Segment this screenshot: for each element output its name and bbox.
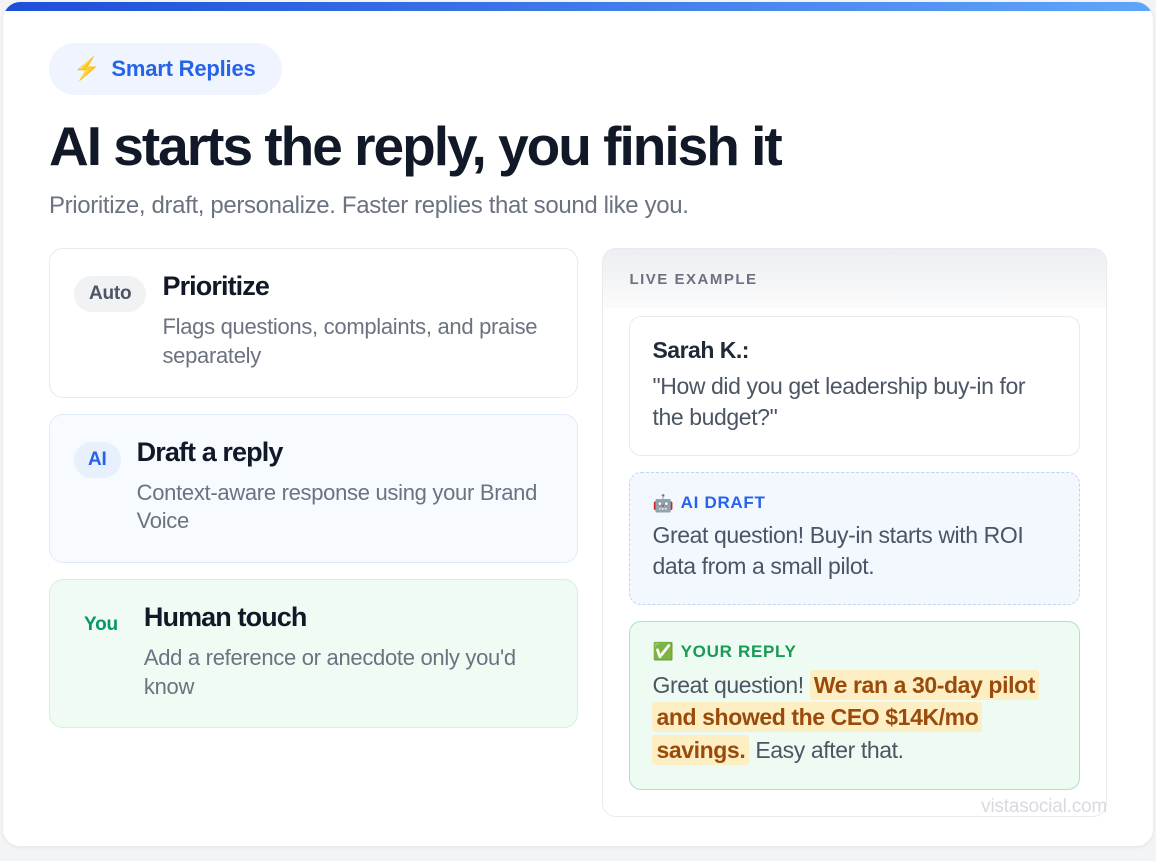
- footer-site-label: vistasocial.com: [981, 796, 1107, 817]
- gradient-top-bar: [3, 2, 1153, 11]
- message-bubble-question: Sarah K.: "How did you get leadership bu…: [629, 316, 1080, 456]
- ai-draft-tag: 🤖 AI DRAFT: [652, 493, 1057, 513]
- steps-column: Auto Prioritize Flags questions, complai…: [49, 248, 578, 728]
- content-columns: Auto Prioritize Flags questions, complai…: [49, 248, 1107, 816]
- step-card-draft-a-reply: AI Draft a reply Context-aware response …: [49, 414, 578, 563]
- page-root: ⚡ Smart Replies AI starts the reply, you…: [0, 0, 1156, 861]
- your-reply-tag: ✅ YOUR REPLY: [652, 642, 1057, 662]
- badge-label: Smart Replies: [111, 56, 255, 82]
- main-card: ⚡ Smart Replies AI starts the reply, you…: [2, 2, 1154, 847]
- live-example-column: LIVE EXAMPLE Sarah K.: "How did you get …: [602, 248, 1107, 816]
- message-bubble-ai-draft: 🤖 AI DRAFT Great question! Buy-in starts…: [629, 472, 1080, 605]
- step-title: Draft a reply: [137, 437, 554, 468]
- step-title: Human touch: [144, 602, 554, 633]
- step-card-human-touch: You Human touch Add a reference or anecd…: [49, 579, 578, 728]
- step-description: Context-aware response using your Brand …: [137, 479, 554, 536]
- page-title: AI starts the reply, you finish it: [49, 117, 1107, 176]
- step-title: Prioritize: [162, 271, 553, 302]
- panel-header: LIVE EXAMPLE: [603, 249, 1106, 308]
- step-chip-auto: Auto: [74, 276, 146, 312]
- ai-draft-text: Great question! Buy-in starts with ROI d…: [652, 520, 1057, 582]
- message-author: Sarah K.:: [652, 337, 1057, 364]
- ai-draft-label: AI DRAFT: [681, 493, 766, 513]
- panel-header-label: LIVE EXAMPLE: [629, 271, 1080, 288]
- lightning-bolt-icon: ⚡: [73, 58, 100, 80]
- message-bubble-your-reply: ✅ YOUR REPLY Great question! We ran a 30…: [629, 621, 1080, 790]
- panel-body: Sarah K.: "How did you get leadership bu…: [603, 308, 1106, 815]
- reply-text-before: Great question!: [652, 672, 809, 698]
- step-body: Draft a reply Context-aware response usi…: [137, 437, 554, 536]
- footer: vistasocial.com: [981, 778, 1153, 818]
- reply-text-after: Easy after that.: [749, 737, 903, 763]
- step-chip-ai: AI: [74, 442, 121, 478]
- message-text: "How did you get leadership buy-in for t…: [652, 371, 1057, 433]
- step-body: Human touch Add a reference or anecdote …: [144, 602, 554, 701]
- robot-icon: 🤖: [652, 495, 673, 512]
- page-subtitle: Prioritize, draft, personalize. Faster r…: [49, 192, 1107, 220]
- card-content: ⚡ Smart Replies AI starts the reply, you…: [3, 11, 1153, 846]
- step-body: Prioritize Flags questions, complaints, …: [162, 271, 553, 370]
- your-reply-label: YOUR REPLY: [681, 642, 797, 662]
- your-reply-text: Great question! We ran a 30-day pilot an…: [652, 669, 1057, 767]
- smart-replies-badge: ⚡ Smart Replies: [49, 43, 282, 95]
- step-description: Add a reference or anecdote only you'd k…: [144, 644, 554, 701]
- step-description: Flags questions, complaints, and praise …: [162, 313, 553, 370]
- step-chip-you: You: [74, 607, 128, 643]
- check-mark-icon: ✅: [652, 643, 673, 660]
- live-example-panel: LIVE EXAMPLE Sarah K.: "How did you get …: [602, 248, 1107, 816]
- step-card-prioritize: Auto Prioritize Flags questions, complai…: [49, 248, 578, 397]
